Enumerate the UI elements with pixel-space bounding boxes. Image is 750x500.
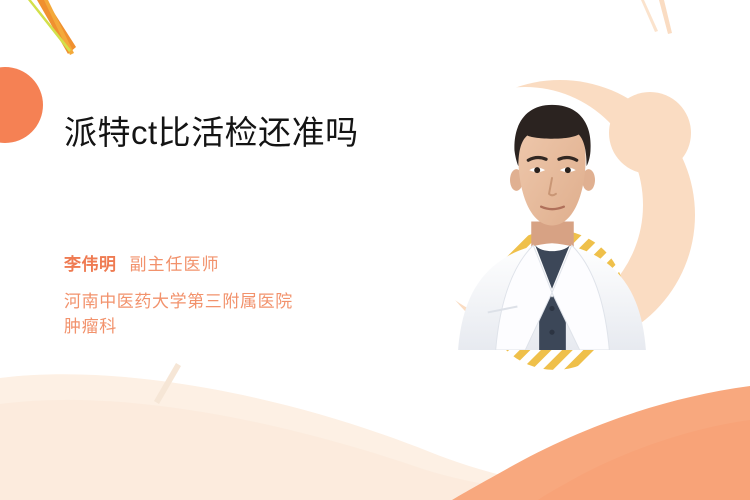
- text-block: 派特ct比活检还准吗 李伟明副主任医师 河南中医药大学第三附属医院 肿瘤科: [64, 112, 464, 154]
- portrait-shirt-button-lower: [549, 330, 554, 335]
- doctor-department: 肿瘤科: [64, 314, 384, 339]
- doctor-hospital: 河南中医药大学第三附属医院: [64, 289, 384, 314]
- portrait-pupil-left: [534, 167, 540, 173]
- doctor-name: 李伟明: [64, 255, 117, 274]
- doctor-affiliation: 河南中医药大学第三附属医院 肿瘤科: [64, 289, 384, 339]
- portrait-shirt-button: [549, 306, 554, 311]
- doctor-rank: 副主任医师: [130, 255, 220, 274]
- doctor-qa-banner: 派特ct比活检还准吗 李伟明副主任医师 河南中医药大学第三附属医院 肿瘤科: [0, 0, 750, 500]
- doctor-portrait: [455, 95, 650, 350]
- portrait-pupil-right: [565, 167, 571, 173]
- page-title: 派特ct比活检还准吗: [64, 112, 464, 154]
- doctor-identity-line: 李伟明副主任医师: [64, 253, 220, 278]
- content-layer: 派特ct比活检还准吗 李伟明副主任医师 河南中医药大学第三附属医院 肿瘤科: [0, 0, 750, 500]
